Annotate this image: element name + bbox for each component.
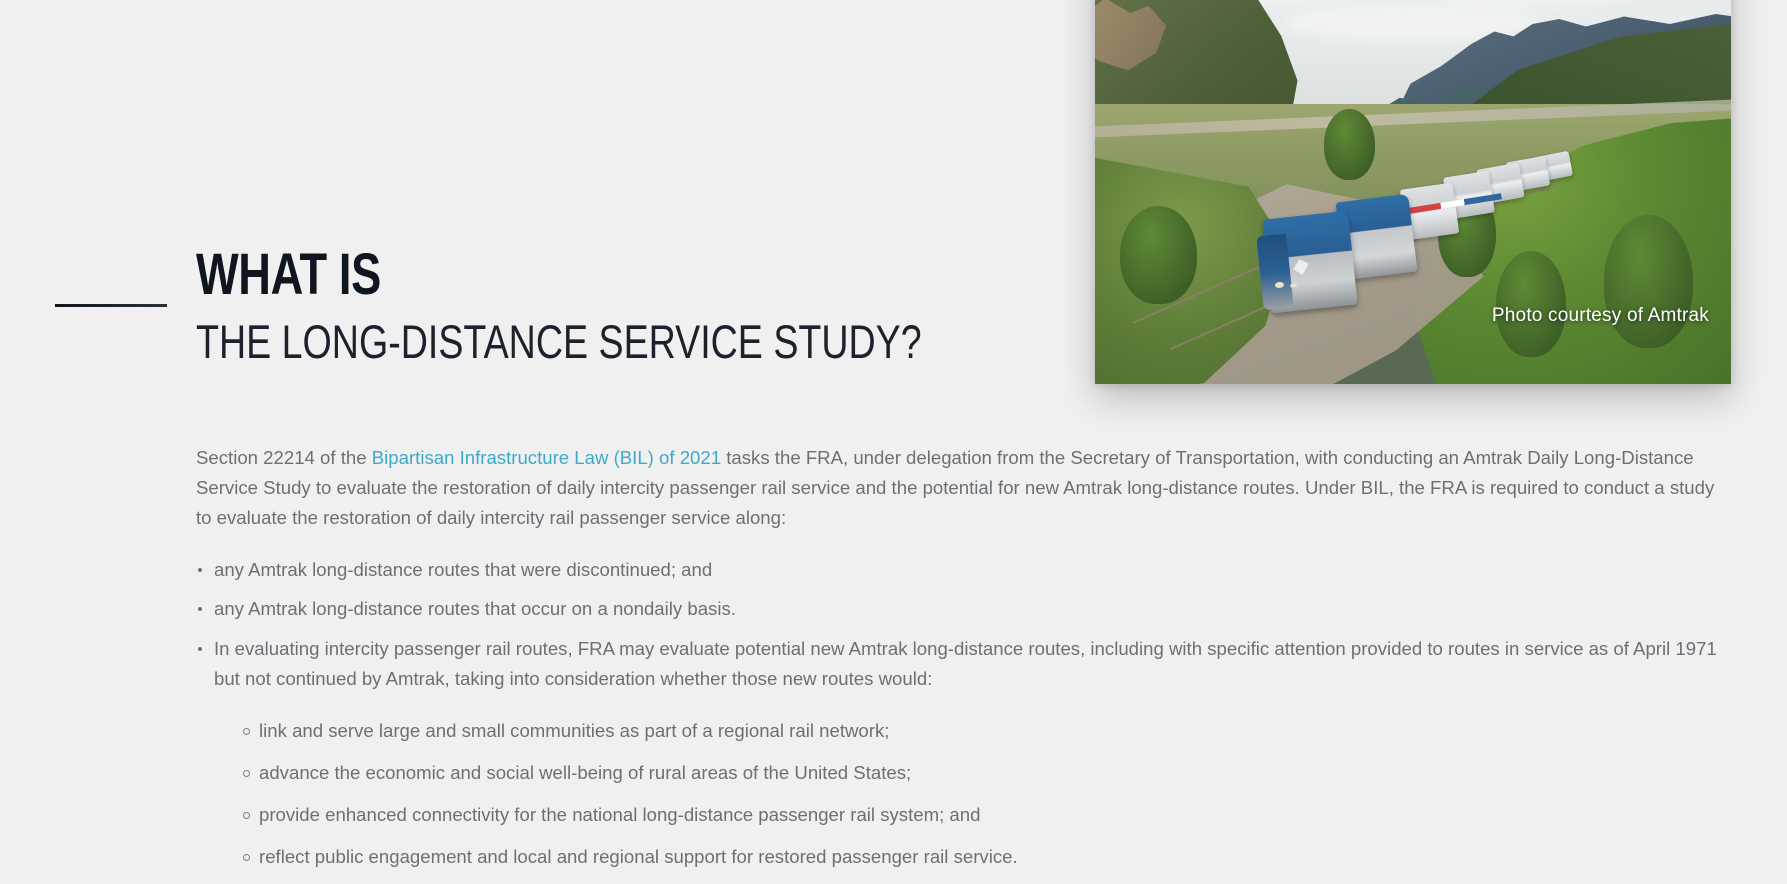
list-item: reflect public engagement and local and …	[241, 842, 1720, 872]
tree	[1604, 215, 1693, 348]
list-item: advance the economic and social well-bei…	[241, 758, 1720, 788]
hero-photo-card: Photo courtesy of Amtrak	[1095, 0, 1731, 384]
list-item: any Amtrak long-distance routes that wer…	[196, 555, 1720, 585]
amtrak-train	[1260, 158, 1591, 327]
intro-paragraph: Section 22214 of the Bipartisan Infrastr…	[196, 443, 1720, 533]
body-content: Section 22214 of the Bipartisan Infrastr…	[196, 443, 1720, 884]
heading-rule-decoration	[55, 304, 167, 307]
primary-bullet-list: any Amtrak long-distance routes that wer…	[196, 555, 1720, 693]
secondary-bullet-list: link and serve large and small communiti…	[196, 716, 1720, 872]
photo-caption: Photo courtesy of Amtrak	[1492, 305, 1709, 327]
page-subtitle: THE LONG-DISTANCE SERVICE STUDY?	[196, 318, 922, 365]
list-item: link and serve large and small communiti…	[241, 716, 1720, 746]
list-item: any Amtrak long-distance routes that occ…	[196, 594, 1720, 624]
tree	[1120, 206, 1196, 304]
list-item: In evaluating intercity passenger rail r…	[196, 634, 1720, 694]
page-title: WHAT IS	[196, 246, 381, 304]
list-item: provide enhanced connectivity for the na…	[241, 800, 1720, 830]
bipartisan-infrastructure-law-link[interactable]: Bipartisan Infrastructure Law (BIL) of 2…	[372, 447, 721, 468]
intro-text-before-link: Section 22214 of the	[196, 447, 372, 468]
